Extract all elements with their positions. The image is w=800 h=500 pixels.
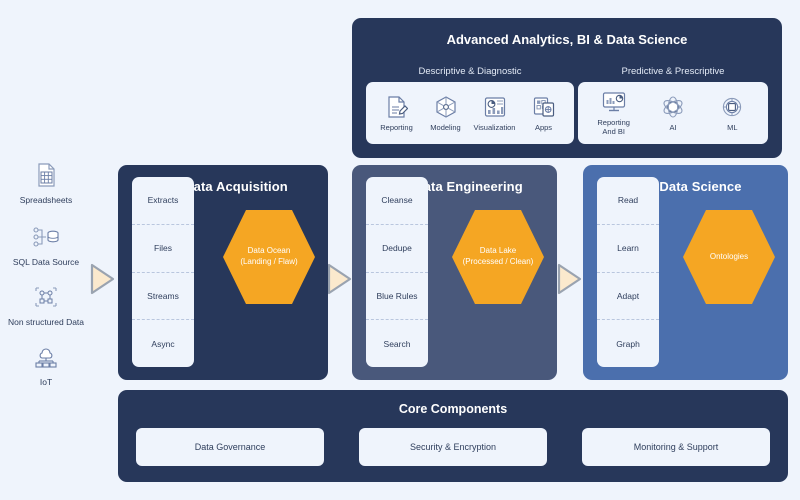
step-item[interactable]: Streams bbox=[132, 273, 194, 321]
analytics-item-apps[interactable]: Apps bbox=[519, 94, 568, 133]
analytics-item-visualization[interactable]: Visualization bbox=[470, 94, 519, 133]
flow-arrow-sources-to-acquisition bbox=[90, 262, 116, 296]
analytics-item-label: ML bbox=[727, 124, 737, 133]
stage-steps-list: Read Learn Adapt Graph bbox=[597, 177, 659, 367]
step-item[interactable]: Learn bbox=[597, 225, 659, 273]
visualization-icon bbox=[483, 94, 507, 120]
spreadsheet-icon bbox=[0, 160, 92, 190]
step-item[interactable]: Dedupe bbox=[366, 225, 428, 273]
apps-icon bbox=[532, 94, 556, 120]
source-non-structured-data[interactable]: Non structured Data bbox=[0, 282, 92, 327]
core-components-title: Core Components bbox=[118, 402, 788, 416]
hexagon-label: Ontologies bbox=[704, 252, 754, 263]
core-item-security-encryption[interactable]: Security & Encryption bbox=[359, 428, 547, 466]
step-item[interactable]: Graph bbox=[597, 320, 659, 367]
step-item[interactable]: Async bbox=[132, 320, 194, 367]
source-label: Spreadsheets bbox=[0, 195, 92, 205]
core-item-monitoring-support[interactable]: Monitoring & Support bbox=[582, 428, 770, 466]
unstructured-data-icon bbox=[0, 282, 92, 312]
modeling-icon bbox=[434, 94, 458, 120]
step-item[interactable]: Cleanse bbox=[366, 177, 428, 225]
architecture-diagram: Spreadsheets SQL Data Source bbox=[0, 0, 800, 500]
data-sources-column: Spreadsheets SQL Data Source bbox=[0, 160, 92, 380]
stage-data-science: Data Science Read Learn Adapt Graph Onto… bbox=[583, 165, 788, 380]
analytics-item-label: Reporting bbox=[380, 124, 413, 133]
predictive-prescriptive-card: Reporting And BI AI bbox=[578, 82, 768, 144]
step-item[interactable]: Read bbox=[597, 177, 659, 225]
data-ocean-hexagon[interactable]: Data Ocean (Landing / Flaw) bbox=[223, 207, 315, 307]
stage-data-acquisition: Data Acquisition Extracts Files Streams … bbox=[118, 165, 328, 380]
step-item[interactable]: Adapt bbox=[597, 273, 659, 321]
core-components-row: Data Governance Security & Encryption Mo… bbox=[136, 428, 770, 466]
descriptive-diagnostic-card: Reporting Modeling bbox=[366, 82, 574, 144]
analytics-item-label: Modeling bbox=[430, 124, 460, 133]
step-item[interactable]: Extracts bbox=[132, 177, 194, 225]
reporting-icon bbox=[386, 94, 408, 120]
stage-data-engineering: Data Engineering Cleanse Dedupe Blue Rul… bbox=[352, 165, 557, 380]
core-item-data-governance[interactable]: Data Governance bbox=[136, 428, 324, 466]
source-label: Non structured Data bbox=[0, 317, 92, 327]
data-lake-hexagon[interactable]: Data Lake (Processed / Clean) bbox=[452, 207, 544, 307]
analytics-item-modeling[interactable]: Modeling bbox=[421, 94, 470, 133]
hexagon-label: Data Ocean (Landing / Flaw) bbox=[234, 246, 303, 268]
analytics-item-ml[interactable]: ML bbox=[706, 94, 758, 133]
reporting-bi-icon bbox=[601, 89, 627, 115]
analytics-right-subtitle: Predictive & Prescriptive bbox=[578, 66, 768, 77]
analytics-item-label: Visualization bbox=[474, 124, 516, 133]
source-label: IoT bbox=[0, 377, 92, 387]
core-components-panel: Core Components Data Governance Security… bbox=[118, 390, 788, 482]
flow-arrow-engineering-to-science bbox=[557, 262, 583, 296]
flow-arrow-acquisition-to-engineering bbox=[327, 262, 353, 296]
step-item[interactable]: Blue Rules bbox=[366, 273, 428, 321]
stage-steps-list: Cleanse Dedupe Blue Rules Search bbox=[366, 177, 428, 367]
source-sql-data-source[interactable]: SQL Data Source bbox=[0, 222, 92, 267]
analytics-item-reporting-and-bi[interactable]: Reporting And BI bbox=[588, 89, 640, 136]
source-spreadsheets[interactable]: Spreadsheets bbox=[0, 160, 92, 205]
analytics-left-subtitle: Descriptive & Diagnostic bbox=[366, 66, 574, 77]
hexagon-label: Data Lake (Processed / Clean) bbox=[457, 246, 540, 268]
source-label: SQL Data Source bbox=[0, 257, 92, 267]
analytics-item-label: AI bbox=[669, 124, 676, 133]
ontologies-hexagon[interactable]: Ontologies bbox=[683, 207, 775, 307]
ai-icon bbox=[661, 94, 685, 120]
iot-icon bbox=[0, 342, 92, 372]
stage-steps-list: Extracts Files Streams Async bbox=[132, 177, 194, 367]
sql-database-icon bbox=[0, 222, 92, 252]
analytics-item-label: Apps bbox=[535, 124, 552, 133]
analytics-item-label: Reporting And BI bbox=[597, 119, 630, 136]
advanced-analytics-panel: Advanced Analytics, BI & Data Science De… bbox=[352, 18, 782, 158]
analytics-title: Advanced Analytics, BI & Data Science bbox=[352, 32, 782, 47]
analytics-item-reporting[interactable]: Reporting bbox=[372, 94, 421, 133]
step-item[interactable]: Search bbox=[366, 320, 428, 367]
step-item[interactable]: Files bbox=[132, 225, 194, 273]
ml-icon bbox=[720, 94, 744, 120]
source-iot[interactable]: IoT bbox=[0, 342, 92, 387]
analytics-item-ai[interactable]: AI bbox=[647, 94, 699, 133]
